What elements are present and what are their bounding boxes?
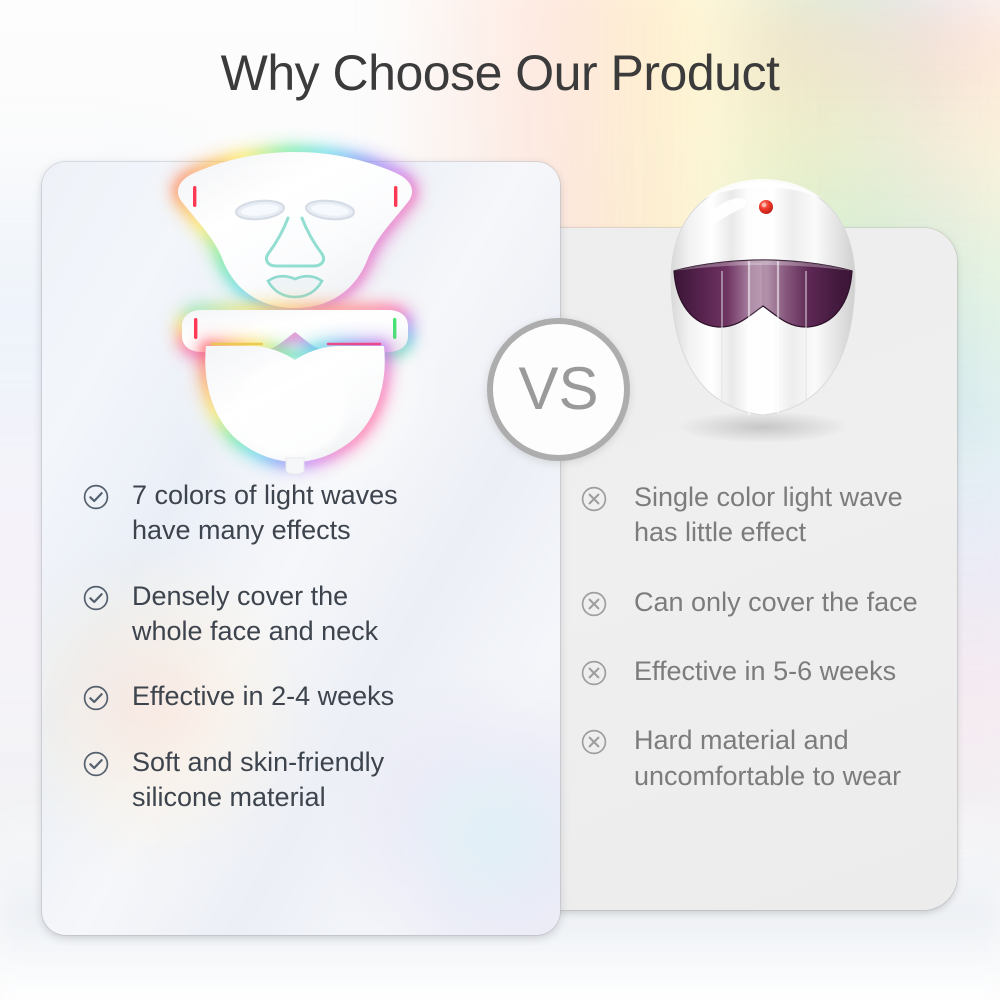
x-circle-icon — [580, 728, 608, 756]
check-circle-icon — [82, 750, 110, 778]
list-item: Can only cover the face — [580, 585, 960, 620]
list-item: Hard material and uncomfortable to wear — [580, 723, 960, 794]
list-item-label: Single color light wave has little effec… — [634, 480, 903, 551]
infographic-canvas: Why Choose Our Product — [0, 0, 1000, 1000]
list-item: Effective in 2-4 weeks — [82, 679, 502, 714]
versus-label: VS — [518, 359, 598, 419]
list-item: Densely cover the whole face and neck — [82, 579, 502, 650]
list-item-label: Can only cover the face — [634, 585, 918, 620]
x-circle-icon — [580, 590, 608, 618]
rigid-led-mask-image — [648, 175, 878, 440]
check-circle-icon — [82, 584, 110, 612]
list-item: Soft and skin-friendly silicone material — [82, 745, 502, 816]
x-circle-icon — [580, 485, 608, 513]
page-title: Why Choose Our Product — [0, 44, 1000, 102]
x-circle-icon — [580, 659, 608, 687]
our-product-feature-list: 7 colors of light waves have many effect… — [82, 478, 502, 846]
versus-badge: VS — [487, 318, 630, 461]
list-item-label: Effective in 5-6 weeks — [634, 654, 896, 689]
check-circle-icon — [82, 684, 110, 712]
list-item-label: Densely cover the whole face and neck — [132, 579, 378, 650]
competitor-feature-list: Single color light wave has little effec… — [580, 480, 960, 828]
list-item-label: 7 colors of light waves have many effect… — [132, 478, 398, 549]
list-item-label: Hard material and uncomfortable to wear — [634, 723, 901, 794]
led-face-neck-mask-image — [140, 140, 450, 470]
list-item: Effective in 5-6 weeks — [580, 654, 960, 689]
list-item-label: Effective in 2-4 weeks — [132, 679, 394, 714]
check-circle-icon — [82, 483, 110, 511]
list-item-label: Soft and skin-friendly silicone material — [132, 745, 384, 816]
list-item: Single color light wave has little effec… — [580, 480, 960, 551]
list-item: 7 colors of light waves have many effect… — [82, 478, 502, 549]
